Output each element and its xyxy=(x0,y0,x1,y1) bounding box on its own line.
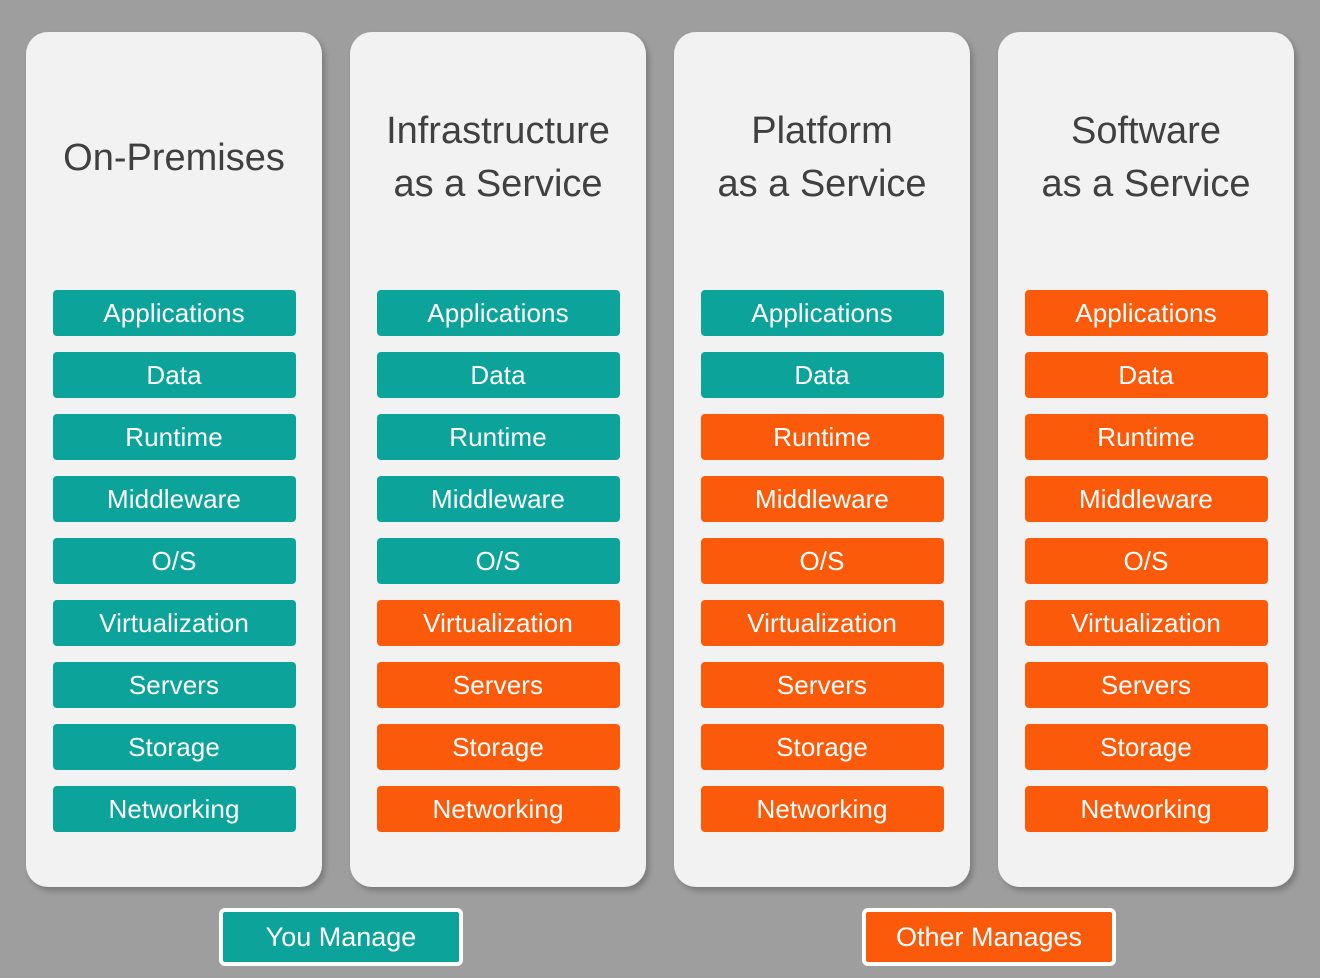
layer-networking: Networking xyxy=(377,786,620,832)
layer-virtualization: Virtualization xyxy=(701,600,944,646)
layer-data: Data xyxy=(377,352,620,398)
layer-runtime: Runtime xyxy=(1025,414,1268,460)
layer-runtime: Runtime xyxy=(701,414,944,460)
legend-you-manage: You Manage xyxy=(219,908,463,966)
service-model-card-on-premises: On-PremisesApplicationsDataRuntimeMiddle… xyxy=(26,32,322,887)
layer-storage: Storage xyxy=(701,724,944,770)
layer-middleware: Middleware xyxy=(701,476,944,522)
layer-applications: Applications xyxy=(53,290,296,336)
card-title: On-Premises xyxy=(48,32,300,290)
layer-servers: Servers xyxy=(701,662,944,708)
legend: You Manage Other Manages xyxy=(0,908,1320,970)
layer-middleware: Middleware xyxy=(53,476,296,522)
layer-applications: Applications xyxy=(377,290,620,336)
card-title: Platform as a Service xyxy=(696,32,948,290)
layer-o-s: O/S xyxy=(377,538,620,584)
layer-data: Data xyxy=(701,352,944,398)
layer-servers: Servers xyxy=(377,662,620,708)
service-model-columns: On-PremisesApplicationsDataRuntimeMiddle… xyxy=(26,32,1294,887)
layer-networking: Networking xyxy=(1025,786,1268,832)
layer-stack: ApplicationsDataRuntimeMiddlewareO/SVirt… xyxy=(53,290,296,832)
cloud-service-models-diagram: On-PremisesApplicationsDataRuntimeMiddle… xyxy=(0,0,1320,978)
layer-stack: ApplicationsDataRuntimeMiddlewareO/SVirt… xyxy=(1025,290,1268,832)
layer-networking: Networking xyxy=(53,786,296,832)
layer-servers: Servers xyxy=(53,662,296,708)
layer-servers: Servers xyxy=(1025,662,1268,708)
layer-storage: Storage xyxy=(377,724,620,770)
layer-storage: Storage xyxy=(53,724,296,770)
layer-data: Data xyxy=(1025,352,1268,398)
layer-virtualization: Virtualization xyxy=(377,600,620,646)
layer-applications: Applications xyxy=(701,290,944,336)
layer-networking: Networking xyxy=(701,786,944,832)
legend-other-manages: Other Manages xyxy=(862,908,1116,966)
layer-o-s: O/S xyxy=(1025,538,1268,584)
layer-o-s: O/S xyxy=(53,538,296,584)
layer-runtime: Runtime xyxy=(377,414,620,460)
service-model-card-platform-as-a-service: Platform as a ServiceApplicationsDataRun… xyxy=(674,32,970,887)
layer-data: Data xyxy=(53,352,296,398)
layer-storage: Storage xyxy=(1025,724,1268,770)
layer-stack: ApplicationsDataRuntimeMiddlewareO/SVirt… xyxy=(701,290,944,832)
layer-middleware: Middleware xyxy=(1025,476,1268,522)
layer-stack: ApplicationsDataRuntimeMiddlewareO/SVirt… xyxy=(377,290,620,832)
layer-virtualization: Virtualization xyxy=(1025,600,1268,646)
service-model-card-software-as-a-service: Software as a ServiceApplicationsDataRun… xyxy=(998,32,1294,887)
layer-middleware: Middleware xyxy=(377,476,620,522)
service-model-card-infrastructure-as-a-service: Infrastructure as a ServiceApplicationsD… xyxy=(350,32,646,887)
layer-applications: Applications xyxy=(1025,290,1268,336)
layer-runtime: Runtime xyxy=(53,414,296,460)
layer-o-s: O/S xyxy=(701,538,944,584)
layer-virtualization: Virtualization xyxy=(53,600,296,646)
card-title: Infrastructure as a Service xyxy=(372,32,624,290)
card-title: Software as a Service xyxy=(1020,32,1272,290)
